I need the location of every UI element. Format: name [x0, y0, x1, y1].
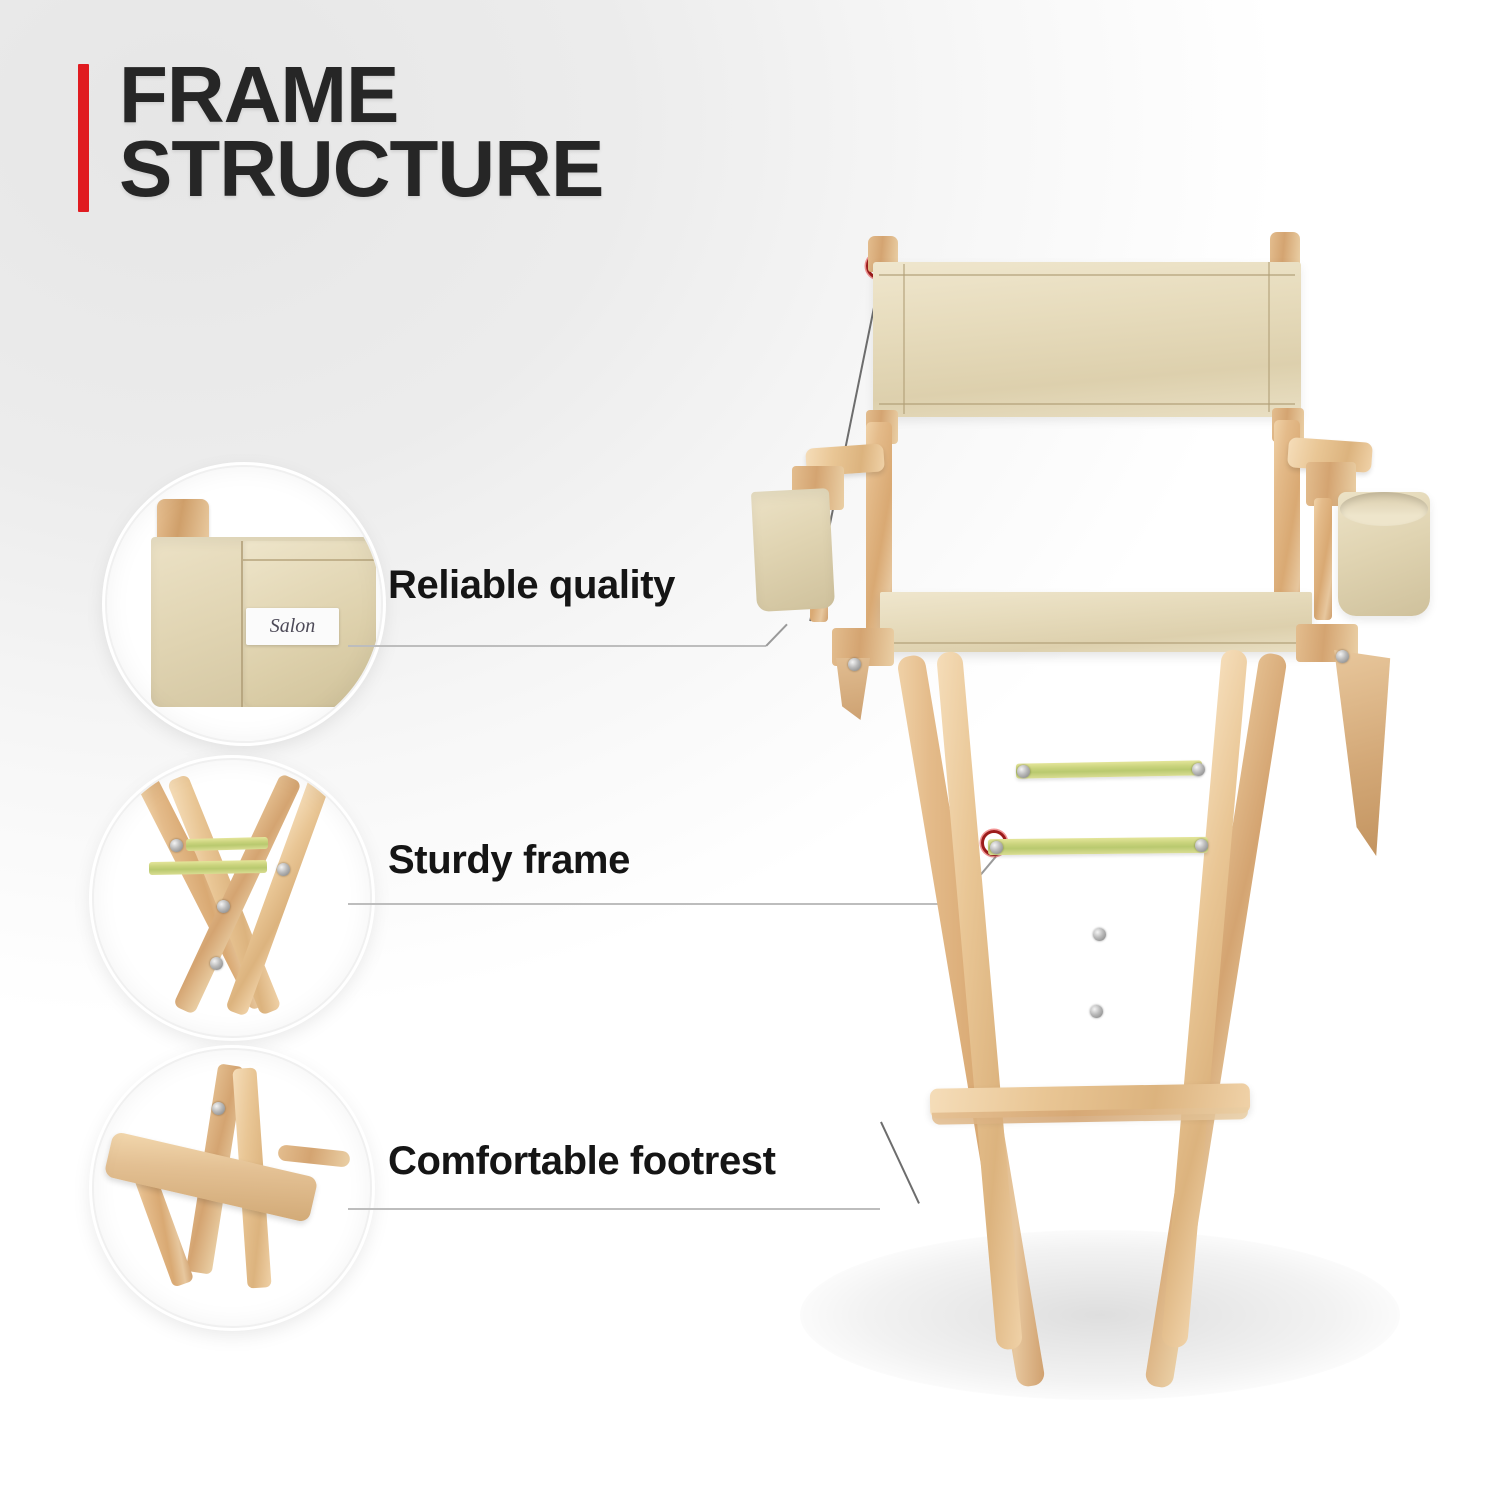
feature-label-sturdy-frame: Sturdy frame	[388, 838, 630, 883]
brass-brace-upper-main	[1016, 760, 1202, 778]
pocket-top-hem	[243, 559, 376, 561]
brand-label-tag: Salon	[246, 608, 339, 645]
seat-seam-front	[885, 642, 1307, 644]
infographic-canvas: FRAME STRUCTURE Salon Reliable quality	[0, 0, 1500, 1500]
title-text: FRAME STRUCTURE	[119, 58, 603, 212]
brass-brace-upper	[186, 837, 268, 851]
feature-image-reliable-quality: Salon	[105, 465, 383, 743]
title-line-1: FRAME	[119, 58, 603, 132]
side-pocket-left	[751, 488, 835, 612]
title-accent-bar	[78, 64, 89, 212]
leg-rivet-upper-right	[1192, 763, 1205, 776]
page-title: FRAME STRUCTURE	[78, 58, 603, 212]
feature-image-comfortable-footrest	[92, 1048, 372, 1328]
backrest-seam-left	[903, 264, 905, 414]
frame-rivet-4	[210, 957, 223, 970]
frame-rivet-3	[217, 900, 230, 913]
footrest-dowel-right	[277, 1144, 350, 1167]
leg-rivet-cross	[1090, 1005, 1103, 1018]
title-line-2: STRUCTURE	[119, 132, 603, 206]
footrest-rivet	[212, 1102, 225, 1115]
brass-brace-lower-main	[988, 837, 1208, 855]
backrest-canvas	[873, 262, 1301, 417]
feature-label-comfortable-footrest: Comfortable footrest	[388, 1139, 776, 1184]
leg-rivet-upper-left	[1017, 765, 1030, 778]
strap-right	[1330, 650, 1400, 856]
feature-image-sturdy-frame	[92, 758, 372, 1038]
cup-holder-rim	[1340, 492, 1428, 526]
brass-brace-lower	[149, 860, 267, 875]
strap-right-eyelet	[1336, 650, 1349, 663]
leg-rivet-mid-left	[990, 841, 1003, 854]
backrest-seam-bottom	[879, 403, 1295, 405]
frame-rivet-2	[277, 863, 290, 876]
strap-left-eyelet	[848, 658, 861, 671]
frame-rivet-1	[170, 839, 183, 852]
brand-label-text: Salon	[270, 615, 316, 638]
leg-rivet-center	[1093, 928, 1106, 941]
backrest-seam-top	[879, 274, 1295, 276]
backrest-seam-right	[1268, 262, 1270, 412]
leader-line-reliable-quality	[348, 645, 766, 647]
armrest-right-support	[1314, 498, 1332, 620]
feature-label-reliable-quality: Reliable quality	[388, 563, 675, 608]
pocket-seam	[241, 541, 243, 707]
leg-rivet-mid-right	[1195, 839, 1208, 852]
product-shadow	[800, 1230, 1400, 1400]
product-image-directors-chair	[740, 210, 1480, 1450]
